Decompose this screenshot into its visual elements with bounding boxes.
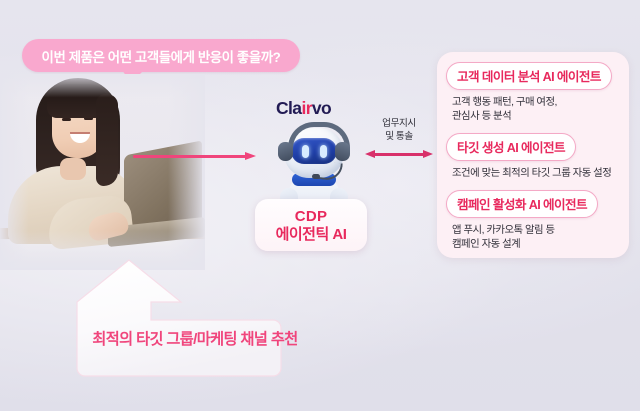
headset-mic-tip-icon [312, 174, 320, 179]
arrow-shaft [133, 155, 249, 158]
cdp-agentic-ai-label: CDP 에이전틱 AI [255, 199, 367, 251]
agent-title-pill[interactable]: 타깃 생성 AI 에이전트 [446, 133, 576, 161]
logo-part-3: vo [312, 98, 331, 118]
agent-item: 고객 데이터 분석 AI 에이전트 고객 행동 패턴, 구매 여정, 관심사 등… [446, 62, 620, 124]
agent-title-pill[interactable]: 캠페인 활성화 AI 에이전트 [446, 190, 598, 218]
speech-bubble: 이번 제품은 어떤 고객들에게 반응이 좋을까? [22, 39, 300, 72]
bidirectional-arrow [365, 150, 433, 159]
arrow-head-right-icon [423, 150, 433, 158]
task-direction-caption-line1: 업무지시 [363, 117, 435, 130]
speech-bubble-text: 이번 제품은 어떤 고객들에게 반응이 좋을까? [22, 39, 300, 72]
person-to-ai-arrow [133, 152, 259, 160]
agent-item: 캠페인 활성화 AI 에이전트 앱 푸시, 카카오톡 알림 등 캠페인 자동 설… [446, 190, 620, 252]
recommendation-text: 최적의 타깃 그룹/마케팅 채널 추천 [55, 326, 335, 350]
agent-title-pill[interactable]: 고객 데이터 분석 AI 에이전트 [446, 62, 612, 90]
clairvo-logo: Clairvo [276, 98, 362, 118]
agent-description: 조건에 맞는 최적의 타깃 그룹 자동 설정 [452, 167, 620, 181]
woman-at-laptop-photo [0, 74, 205, 270]
photo-edge-fade [0, 74, 205, 270]
arrow-head-right-icon [245, 152, 256, 160]
logo-part-1: Cla [276, 98, 301, 118]
agent-description: 고객 행동 패턴, 구매 여정, 관심사 등 분석 [452, 96, 620, 124]
logo-part-2: ir [301, 98, 311, 118]
infographic-canvas: 이번 제품은 어떤 고객들에게 반응이 좋을까? Clairvo [0, 0, 640, 411]
bidi-arrow-shaft [373, 153, 425, 156]
ai-agents-panel: 고객 데이터 분석 AI 에이전트 고객 행동 패턴, 구매 여정, 관심사 등… [437, 52, 629, 258]
cdp-label-line2: 에이전틱 AI [276, 226, 347, 243]
headset-earcup-right-icon [335, 142, 350, 161]
recommendation-up-arrow [55, 258, 335, 378]
cdp-label-line1: CDP [295, 208, 328, 225]
up-arrow-shape [55, 258, 335, 378]
task-direction-caption-line2: 및 통솔 [363, 130, 435, 143]
headset-earcup-left-icon [278, 142, 293, 161]
agent-item: 타깃 생성 AI 에이전트 조건에 맞는 최적의 타깃 그룹 자동 설정 [446, 133, 620, 181]
agent-description: 앱 푸시, 카카오톡 알림 등 캠페인 자동 설계 [452, 224, 620, 252]
task-direction-caption: 업무지시 및 통솔 [363, 117, 435, 143]
